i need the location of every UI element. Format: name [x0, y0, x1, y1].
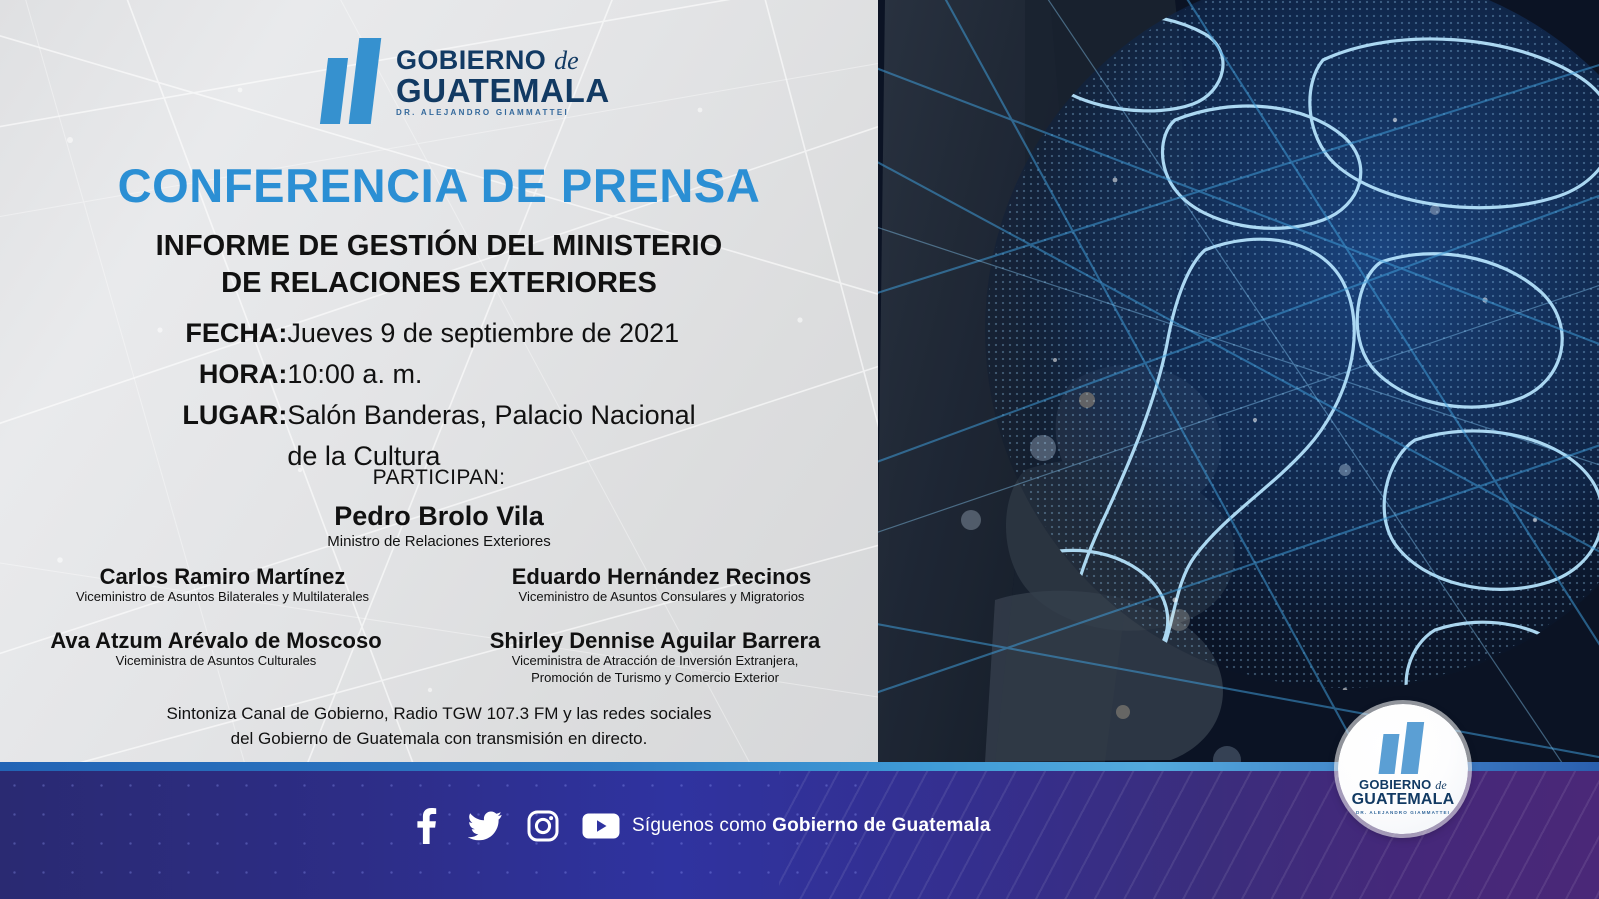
facebook-icon: [416, 808, 438, 844]
logo-tagline: DR. ALEJANDRO GIAMMATTEI: [396, 107, 610, 120]
viceminister-role-line-1: Viceministro de Asuntos Bilaterales y Mu…: [0, 589, 445, 606]
viceministers-grid: Carlos Ramiro Martínez Viceministro de A…: [0, 564, 878, 687]
badge-tagline: DR. ALEJANDRO GIAMMATTEI: [1356, 809, 1450, 816]
page-title: CONFERENCIA DE PRENSA: [0, 158, 878, 213]
logo-wordmark: GOBIERNO de GUATEMALA DR. ALEJANDRO GIAM…: [396, 47, 610, 124]
badge-bars-icon: [1379, 722, 1427, 774]
facebook-link[interactable]: [398, 806, 456, 846]
youtube-link[interactable]: [572, 806, 630, 846]
detail-value-fecha: Jueves 9 de septiembre de 2021: [287, 313, 695, 354]
broadcast-line-1: Sintoniza Canal de Gobierno, Radio TGW 1…: [0, 702, 878, 727]
detail-value-hora: 10:00 a. m.: [287, 354, 695, 395]
follow-prefix: Síguenos como: [632, 815, 772, 836]
twitter-link[interactable]: [456, 806, 514, 846]
broadcast-line-2: del Gobierno de Guatemala con transmisió…: [0, 727, 878, 752]
viceminister-name: Carlos Ramiro Martínez: [0, 564, 445, 589]
page-subtitle: INFORME DE GESTIÓN DEL MINISTERIO DE REL…: [0, 228, 878, 302]
detail-label-fecha: FECHA:: [182, 313, 287, 354]
instagram-icon: [527, 810, 559, 842]
event-details: FECHA: Jueves 9 de septiembre de 2021 HO…: [0, 313, 878, 477]
viceminister-role-line-1: Viceministra de Atracción de Inversión E…: [432, 653, 878, 670]
subtitle-line-2: DE RELACIONES EXTERIORES: [0, 265, 878, 302]
participants-label: PARTICIPAN:: [0, 466, 878, 490]
press-conference-poster: GOBIERNO de GUATEMALA DR. ALEJANDRO GIAM…: [0, 0, 1599, 899]
social-links: [398, 806, 630, 846]
globe-graphic: [875, 0, 1599, 762]
viceminister-card: Shirley Dennise Aguilar Barrera Vicemini…: [432, 628, 878, 687]
minister-name: Pedro Brolo Vila: [0, 500, 878, 532]
follow-brand: Gobierno de Guatemala: [772, 815, 991, 836]
badge-de: de: [1435, 778, 1447, 792]
viceminister-name: Eduardo Hernández Recinos: [445, 564, 878, 589]
logo-line2: GUATEMALA: [396, 74, 610, 108]
viceminister-role-line-1: Viceministra de Asuntos Culturales: [0, 653, 432, 670]
broadcast-note: Sintoniza Canal de Gobierno, Radio TGW 1…: [0, 702, 878, 751]
follow-text: Síguenos como Gobierno de Guatemala: [632, 815, 991, 837]
twitter-icon: [468, 811, 502, 841]
instagram-link[interactable]: [514, 806, 572, 846]
footer-logo-badge: GOBIERNO de GUATEMALA DR. ALEJANDRO GIAM…: [1338, 704, 1468, 834]
viceminister-name: Shirley Dennise Aguilar Barrera: [432, 628, 878, 653]
badge-line1: GOBIERNO: [1359, 777, 1431, 792]
youtube-icon: [582, 812, 620, 840]
viceminister-name: Ava Atzum Arévalo de Moscoso: [0, 628, 432, 653]
viceminister-role-line-1: Viceministro de Asuntos Consulares y Mig…: [445, 589, 878, 606]
logo-bars-icon: [322, 38, 384, 124]
detail-value-lugar: Salón Banderas, Palacio Nacional: [287, 395, 695, 436]
detail-row-hora: HORA: 10:00 a. m.: [182, 354, 695, 395]
viceminister-card: Eduardo Hernández Recinos Viceministro d…: [445, 564, 878, 606]
viceminister-row-2: Ava Atzum Arévalo de Moscoso Viceministr…: [0, 628, 878, 687]
viceminister-card: Carlos Ramiro Martínez Viceministro de A…: [0, 564, 445, 606]
logo-de: de: [554, 46, 579, 75]
detail-label-hora: HORA:: [182, 354, 287, 395]
subtitle-line-1: INFORME DE GESTIÓN DEL MINISTERIO: [0, 228, 878, 265]
viceminister-role-line-2: Promoción de Turismo y Comercio Exterior: [432, 670, 878, 687]
badge-line2: GUATEMALA: [1352, 791, 1455, 809]
viceminister-card: Ava Atzum Arévalo de Moscoso Viceministr…: [0, 628, 432, 687]
gobierno-de-guatemala-logo: GOBIERNO de GUATEMALA DR. ALEJANDRO GIAM…: [322, 38, 610, 124]
minister-block: Pedro Brolo Vila Ministro de Relaciones …: [0, 500, 878, 553]
logo-line1: GOBIERNO: [396, 45, 546, 75]
content-panel: GOBIERNO de GUATEMALA DR. ALEJANDRO GIAM…: [0, 0, 878, 762]
minister-role: Ministro de Relaciones Exteriores: [0, 532, 878, 552]
detail-label-lugar: LUGAR:: [182, 395, 287, 436]
detail-row-fecha: FECHA: Jueves 9 de septiembre de 2021: [182, 313, 695, 354]
viceminister-row-1: Carlos Ramiro Martínez Viceministro de A…: [0, 564, 878, 606]
digital-globe-photo: [875, 0, 1599, 762]
detail-row-lugar: LUGAR: Salón Banderas, Palacio Nacional: [182, 395, 695, 436]
